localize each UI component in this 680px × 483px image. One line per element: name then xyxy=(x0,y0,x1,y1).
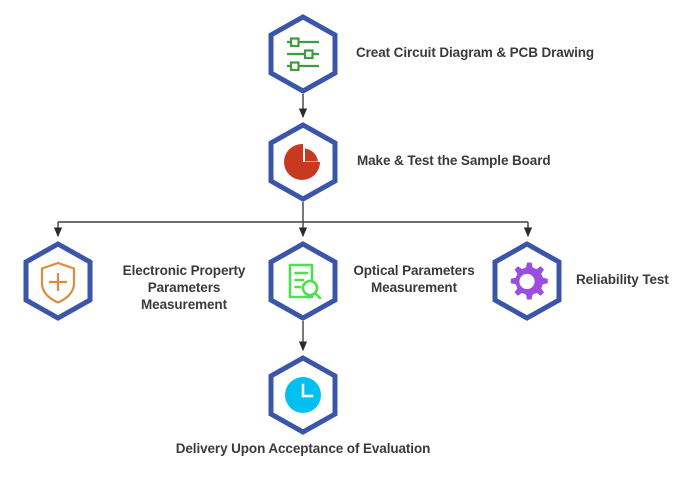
node-label-electronic-property: Electronic Property Parameters Measureme… xyxy=(108,262,260,313)
node-label-sample-board: Make & Test the Sample Board xyxy=(357,152,551,169)
node-label-delivery: Delivery Upon Acceptance of Evaluation xyxy=(142,440,464,457)
node-optical-parameters[interactable] xyxy=(267,241,339,321)
node-delivery[interactable] xyxy=(267,355,339,435)
node-reliability-test[interactable] xyxy=(491,241,563,321)
node-label-circuit-diagram: Creat Circuit Diagram & PCB Drawing xyxy=(356,44,594,61)
node-sample-board[interactable] xyxy=(267,122,339,202)
node-electronic-property[interactable] xyxy=(22,241,94,321)
gear-icon xyxy=(511,263,548,300)
node-label-reliability-test: Reliability Test xyxy=(576,271,669,288)
clock-icon xyxy=(285,377,321,413)
node-circuit-diagram[interactable] xyxy=(267,14,339,94)
connector-layer xyxy=(0,0,680,483)
node-label-optical-parameters: Optical Parameters Measurement xyxy=(346,262,482,296)
